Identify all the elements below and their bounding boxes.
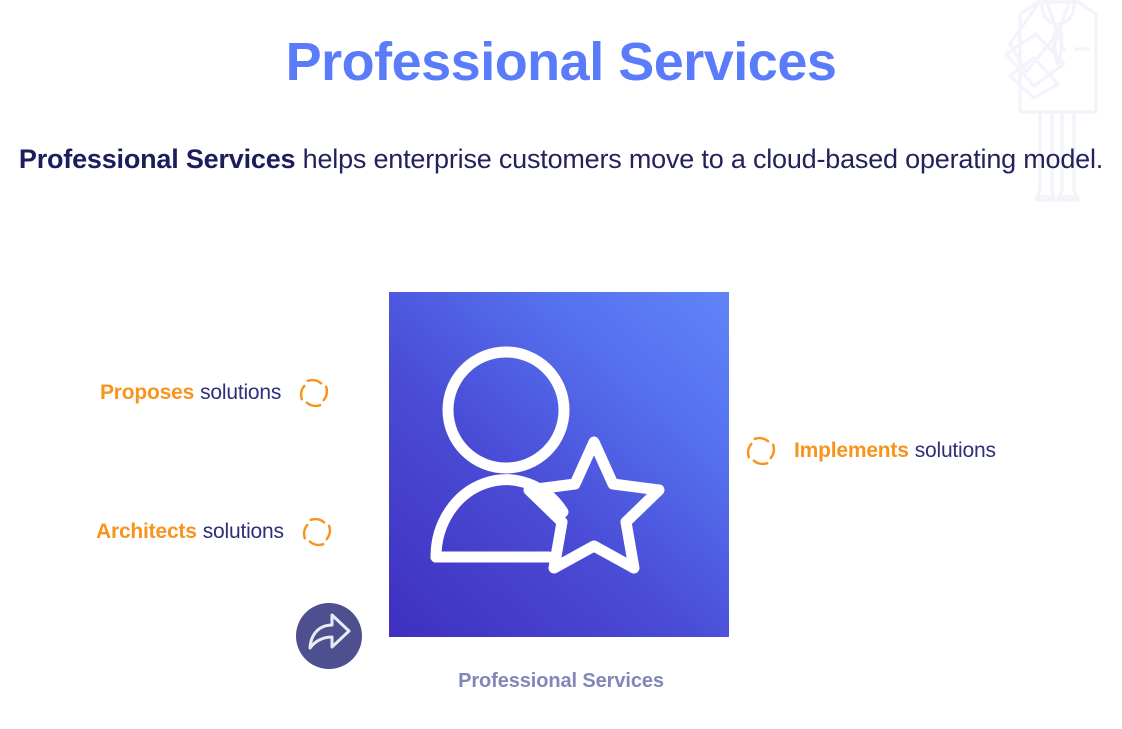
tile-caption: Professional Services: [0, 670, 1122, 693]
person-with-star-icon: [389, 292, 729, 637]
share-badge[interactable]: [296, 603, 362, 669]
businessman-with-laptop-icon: [996, 0, 1116, 219]
page-subtitle: Professional Services helps enterprise c…: [0, 140, 1122, 179]
subtitle-lead: Professional Services: [19, 144, 295, 174]
feature-label-noun: solutions: [203, 520, 284, 544]
feature-label-verb: Proposes: [100, 381, 194, 405]
service-tile[interactable]: [389, 292, 729, 637]
feature-label-architects[interactable]: Architects solutions: [96, 513, 336, 551]
feature-label-text: Proposes solutions: [100, 381, 281, 405]
feature-label-noun: solutions: [915, 439, 996, 463]
share-forward-arrow-icon: [296, 603, 362, 669]
feature-label-verb: Architects: [96, 520, 197, 544]
broken-circle-arcs-icon: [298, 513, 336, 551]
feature-label-text: Architects solutions: [96, 520, 284, 544]
broken-circle-arcs-icon: [295, 374, 333, 412]
subtitle-rest: helps enterprise customers move to a clo…: [295, 144, 1103, 174]
page-title: Professional Services: [0, 34, 1122, 91]
broken-circle-arcs-icon: [742, 432, 780, 470]
feature-label-implements[interactable]: Implements solutions: [742, 432, 996, 470]
feature-label-verb: Implements: [794, 439, 909, 463]
feature-label-noun: solutions: [200, 381, 281, 405]
feature-label-proposes[interactable]: Proposes solutions: [100, 374, 333, 412]
feature-label-text: Implements solutions: [794, 439, 996, 463]
